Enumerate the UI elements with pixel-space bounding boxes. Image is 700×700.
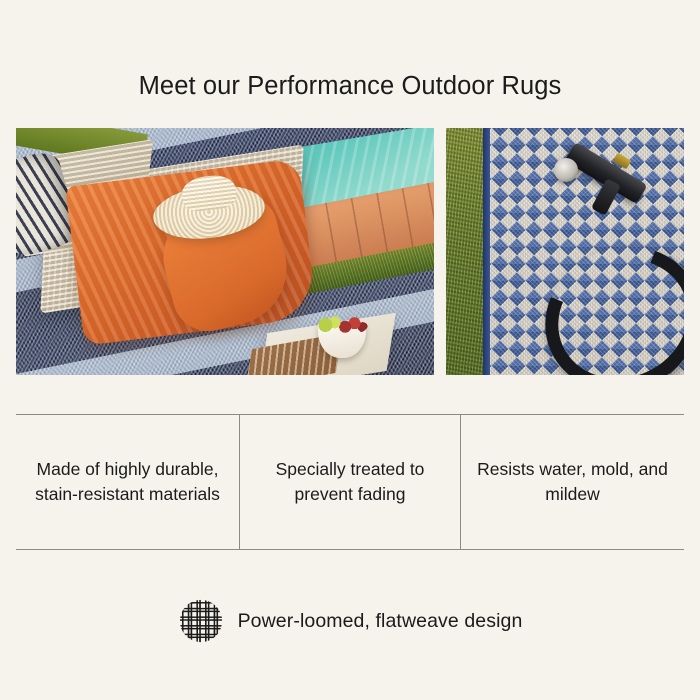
fruit	[316, 314, 368, 336]
rug-selvedge-edge	[483, 128, 490, 375]
grass-edge	[446, 128, 483, 375]
rug-closeup-with-garden-hose-photo	[446, 128, 684, 375]
footer-callout: Power-loomed, flatweave design	[0, 598, 700, 644]
footer-label: Power-loomed, flatweave design	[238, 610, 523, 633]
feature-water-mold-mildew-resistant: Resists water, mold, and mildew	[460, 415, 684, 549]
feature-durable-stain-resistant: Made of highly durable, stain-resistant …	[16, 415, 239, 549]
feature-list: Made of highly durable, stain-resistant …	[16, 414, 684, 550]
image-gallery	[16, 128, 684, 375]
marketing-banner: Meet our Performance Outdoor Rugs	[0, 0, 700, 700]
poolside-rug-lifestyle-photo	[16, 128, 434, 375]
feature-fade-resistant: Specially treated to prevent fading	[239, 415, 460, 549]
page-title: Meet our Performance Outdoor Rugs	[0, 71, 700, 102]
hose-nozzle-collar	[554, 158, 578, 182]
basket-weave-icon	[178, 598, 224, 644]
